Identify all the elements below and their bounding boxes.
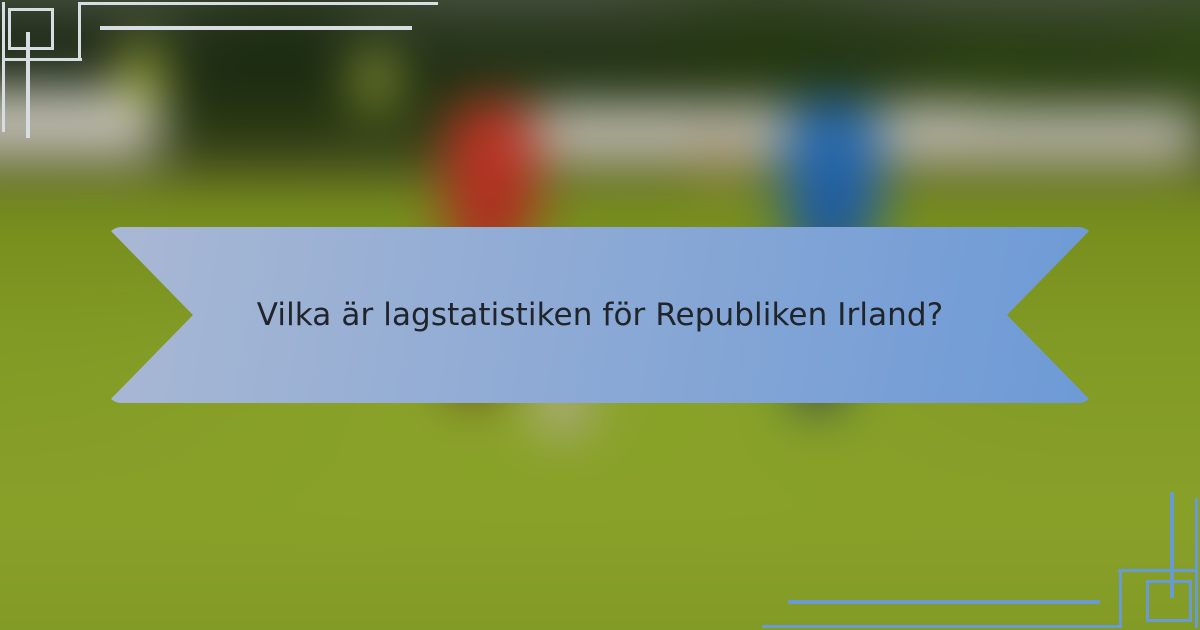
corner-line-horizontal-outer [762,625,1122,628]
corner-square-icon [8,8,54,50]
corner-elbow-vertical [1119,570,1122,628]
spectator-center [360,52,390,106]
corner-line-horizontal-outer [78,2,438,5]
corner-elbow-horizontal [2,58,82,61]
corner-frame-bottom-right [1000,460,1200,630]
poster-canvas: Vilka är lagstatistiken för Republiken I… [0,0,1200,630]
corner-elbow-vertical [78,2,81,60]
corner-line-vertical-outer [2,2,5,132]
title-ribbon-banner: Vilka är lagstatistiken för Republiken I… [107,227,1093,403]
page-title: Vilka är lagstatistiken för Republiken I… [107,227,1093,403]
corner-square-icon [1146,580,1192,622]
corner-line-vertical-outer [1195,498,1198,628]
player-head-center [697,136,741,180]
corner-line-horizontal-inner [788,600,1100,604]
corner-elbow-horizontal [1118,569,1198,572]
corner-line-horizontal-inner [100,26,412,30]
corner-frame-top-left [0,0,200,170]
